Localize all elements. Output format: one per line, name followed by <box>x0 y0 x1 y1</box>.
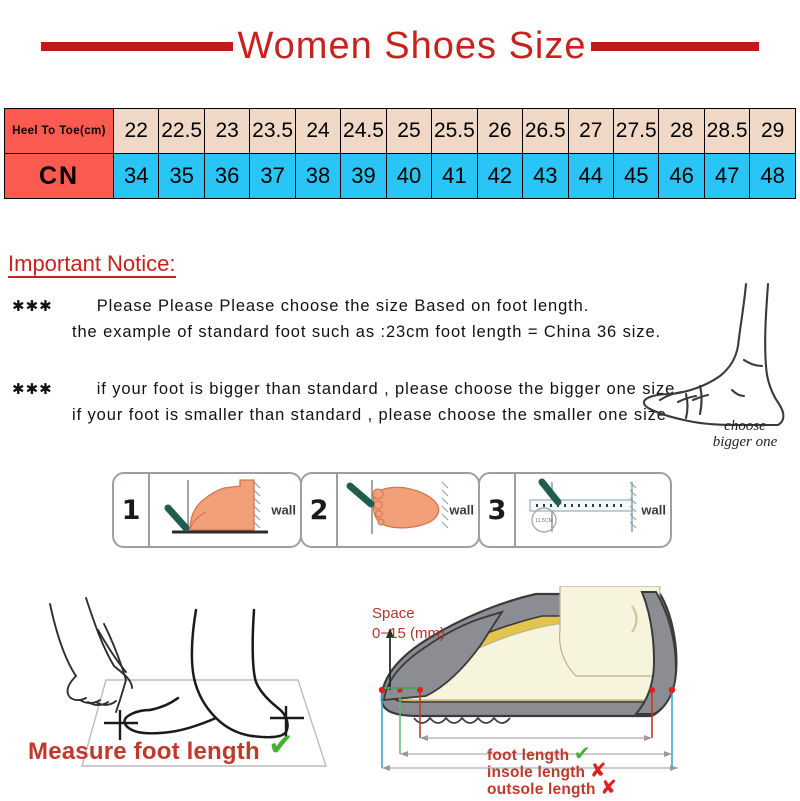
cell-cm-11: 27.5 <box>613 109 658 154</box>
cell-cm-2: 23 <box>204 109 249 154</box>
choose-bigger-line-1: choose <box>690 418 800 434</box>
cell-cm-12: 28 <box>659 109 704 154</box>
cell-cm-10: 27 <box>568 109 613 154</box>
title-rule-left <box>41 42 233 51</box>
cell-cn-3: 37 <box>250 154 295 199</box>
step-number-2: 2 <box>302 474 338 546</box>
notice-2-line-2: if your foot is smaller than standard , … <box>72 406 667 424</box>
notice-2-line-1: if your foot is bigger than standard , p… <box>97 380 675 398</box>
cell-cn-2: 36 <box>204 154 249 199</box>
wall-label-1: wall <box>271 503 296 518</box>
row-label-cn: CN <box>5 154 114 199</box>
cell-cn-7: 41 <box>432 154 477 199</box>
cell-cm-9: 26.5 <box>523 109 568 154</box>
outsole-length-label: outsole length <box>487 781 596 798</box>
notice-1-line-1: Please Please Please choose the size Bas… <box>97 297 590 315</box>
cell-cn-0: 34 <box>114 154 159 199</box>
outsole-length-annotation: outsole length ✘ <box>487 775 617 800</box>
notice-block-2: ✱✱✱if your foot is bigger than standard … <box>12 377 675 428</box>
bullet-stars: ✱✱✱ <box>12 298 53 315</box>
cell-cn-14: 48 <box>750 154 796 199</box>
cell-cm-7: 25.5 <box>432 109 477 154</box>
cell-cm-3: 23.5 <box>250 109 295 154</box>
table-row: Heel To Toe(cm)2222.52323.52424.52525.52… <box>5 109 796 154</box>
step-box-1: 1 wall <box>112 472 302 548</box>
outsole-length-cross-icon: ✘ <box>600 777 617 799</box>
page-title: Women Shoes Size <box>237 25 586 68</box>
wall-label-3: wall <box>641 503 666 518</box>
space-annotation: Space 0−15 (mm) <box>372 604 445 645</box>
cell-cn-5: 39 <box>341 154 386 199</box>
cell-cn-1: 35 <box>159 154 204 199</box>
step-number-3: 3 <box>480 474 516 546</box>
cell-cn-11: 45 <box>613 154 658 199</box>
choose-bigger-line-2: bigger one <box>690 434 800 450</box>
cell-cn-9: 43 <box>523 154 568 199</box>
cell-cn-8: 42 <box>477 154 522 199</box>
step-box-2: 2 wall <box>300 472 480 548</box>
cell-cn-10: 44 <box>568 154 613 199</box>
bullet-stars: ✱✱✱ <box>12 381 53 398</box>
measure-foot-caption: Measure foot length <box>28 738 260 766</box>
cell-cm-14: 29 <box>750 109 796 154</box>
cell-cn-4: 38 <box>295 154 340 199</box>
space-label-line-2: 0−15 (mm) <box>372 624 445 644</box>
important-notice-heading: Important Notice: <box>8 252 176 278</box>
cell-cm-0: 22 <box>114 109 159 154</box>
cell-cm-4: 24 <box>295 109 340 154</box>
ruler-value-label: 11.5CM <box>535 518 553 524</box>
choose-bigger-caption: choose bigger one <box>690 418 800 450</box>
wall-label-2: wall <box>449 503 474 518</box>
cell-cm-13: 28.5 <box>704 109 749 154</box>
size-conversion-table: Heel To Toe(cm)2222.52323.52424.52525.52… <box>4 108 796 199</box>
step-1-illustration: wall <box>150 474 300 546</box>
step-2-illustration: wall <box>338 474 478 546</box>
notice-block-1: ✱✱✱Please Please Please choose the size … <box>12 294 661 345</box>
step-box-3: 3 11.5CM wall <box>478 472 672 548</box>
step-number-1: 1 <box>114 474 150 546</box>
cell-cm-1: 22.5 <box>159 109 204 154</box>
cell-cn-12: 46 <box>659 154 704 199</box>
step-3-illustration: 11.5CM wall <box>516 474 670 546</box>
measure-check-icon: ✔ <box>268 729 294 760</box>
cell-cm-8: 26 <box>477 109 522 154</box>
space-label-line-1: Space <box>372 604 445 624</box>
page-title-band: Women Shoes Size <box>0 20 800 72</box>
cell-cn-13: 47 <box>704 154 749 199</box>
cell-cm-5: 24.5 <box>341 109 386 154</box>
cell-cn-6: 40 <box>386 154 431 199</box>
notice-1-line-2: the example of standard foot such as :23… <box>72 323 661 341</box>
cell-cm-6: 25 <box>386 109 431 154</box>
row-label-cm: Heel To Toe(cm) <box>5 109 114 154</box>
title-rule-right <box>591 42 759 51</box>
table-row: CN343536373839404142434445464748 <box>5 154 796 199</box>
